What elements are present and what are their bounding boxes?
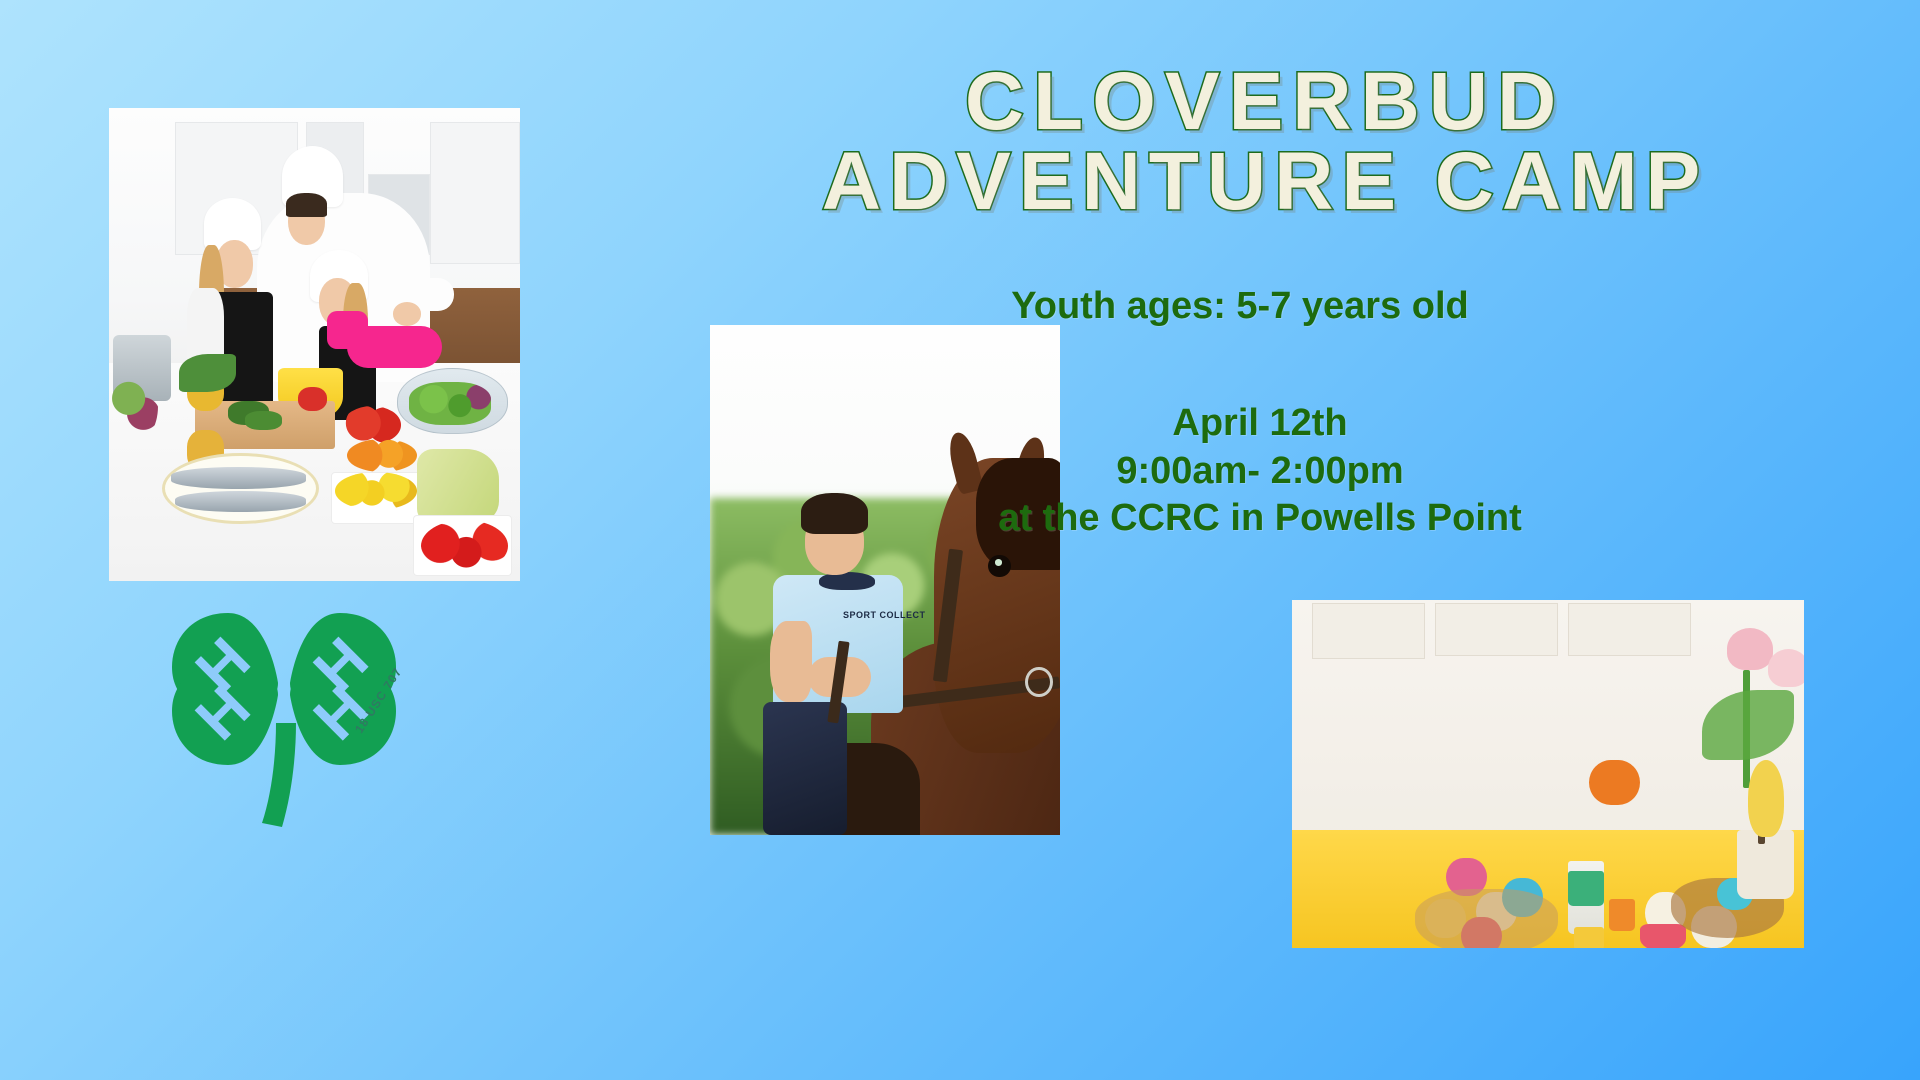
yellow-tulip [1748,760,1784,837]
cabinet [1568,603,1691,655]
shirt-collar [819,572,875,589]
celery [417,449,499,525]
cabinet [430,122,520,264]
title-line-2: ADVENTURE CAMP [640,142,1890,222]
ages-text: Youth ages: 5-7 years old [900,285,1580,328]
tulip-flower [1727,628,1773,670]
tomato [298,387,327,411]
cucumber [245,411,282,430]
title-line-1: CLOVERBUD [640,62,1890,142]
event-location: at the CCRC in Powells Point [880,495,1640,543]
chef-hand [393,302,422,326]
girl2-pink-shoulder [327,311,368,349]
shirt-graphic-text: SPORT COLLECT [843,611,926,620]
boy-arm [770,621,812,703]
event-date: April 12th [880,400,1640,448]
fish-plate [162,453,318,524]
chef-hair [286,193,327,217]
egg-basket [1415,889,1558,948]
cabinet [1312,603,1425,659]
water-cup [1737,830,1793,900]
cabinet [1435,603,1558,655]
page-title: CLOVERBUD ADVENTURE CAMP [640,62,1890,223]
tomatoes [343,406,401,444]
yellow-tomatoes [335,472,417,510]
horse-eye [988,555,1011,578]
boy-hair [801,493,868,534]
egg-decorating-photo [1292,600,1804,948]
salad-greens [409,382,491,425]
paint-jar-green-label [1568,871,1604,906]
pineapple-leaves [179,354,237,392]
egg-cup [1640,924,1686,948]
paint-pot [1609,899,1635,930]
fish [175,491,307,512]
tulip-flower [1768,649,1804,687]
produce-basket [109,368,158,444]
orange-egg [1589,760,1640,805]
event-details: April 12th 9:00am- 2:00pm at the CCRC in… [880,400,1640,543]
bit-ring [1025,667,1053,698]
paint-pot [1574,927,1605,948]
strawberries [421,520,507,572]
flyer-canvas: SPORT COLLECT [0,0,1920,1080]
cooking-photo [109,108,520,581]
event-time: 9:00am- 2:00pm [880,448,1640,496]
fish [171,467,307,488]
